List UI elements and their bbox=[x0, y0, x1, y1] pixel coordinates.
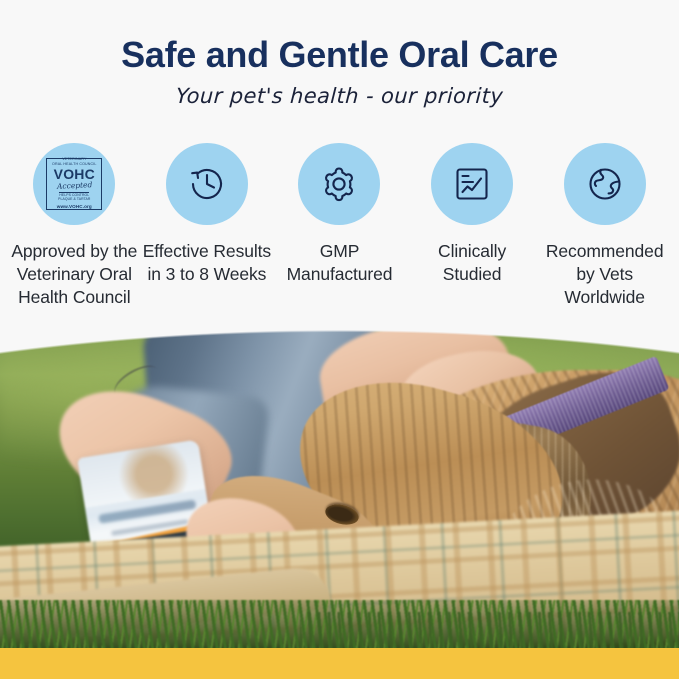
feature-badge-effective: Effective Results in 3 to 8 Weeks bbox=[141, 143, 274, 286]
vohc-mark: VOHC bbox=[54, 167, 95, 181]
feature-badge-caption: Clinically Studied bbox=[406, 240, 539, 286]
bottom-accent-bar bbox=[0, 648, 679, 679]
feature-badge-caption: Recommended by Vets Worldwide bbox=[538, 240, 671, 309]
feature-badge-row: VETERINARY ORAL HEALTH COUNCIL VOHC Acce… bbox=[8, 143, 671, 309]
product-infographic-page: Safe and Gentle Oral Care Your pet's hea… bbox=[0, 0, 679, 679]
page-subtitle: Your pet's health - our priority bbox=[0, 84, 679, 108]
gear-icon bbox=[298, 143, 380, 225]
vohc-seal-icon: VETERINARY ORAL HEALTH COUNCIL VOHC Acce… bbox=[33, 143, 115, 225]
globe-icon bbox=[564, 143, 646, 225]
photo-foreground-grass bbox=[300, 612, 679, 648]
feature-badge-gmp: GMP Manufactured bbox=[273, 143, 406, 286]
header: Safe and Gentle Oral Care Your pet's hea… bbox=[0, 0, 679, 108]
feature-badge-caption: GMP Manufactured bbox=[273, 240, 406, 286]
feature-badge-clinical: Clinically Studied bbox=[406, 143, 539, 286]
feature-badge-caption: Approved by the Veterinary Oral Health C… bbox=[8, 240, 141, 309]
vohc-accepted: Accepted bbox=[56, 181, 92, 190]
vohc-line4: PLAQUE & TARTAR bbox=[58, 198, 90, 201]
feature-badge-worldwide: Recommended by Vets Worldwide bbox=[538, 143, 671, 309]
lifestyle-photo bbox=[0, 330, 679, 648]
feature-badge-caption: Effective Results in 3 to 8 Weeks bbox=[141, 240, 274, 286]
feature-badge-vohc: VETERINARY ORAL HEALTH COUNCIL VOHC Acce… bbox=[8, 143, 141, 309]
vohc-url: www.VOHC.org bbox=[57, 205, 92, 210]
clock-history-icon bbox=[166, 143, 248, 225]
page-title: Safe and Gentle Oral Care bbox=[0, 34, 679, 75]
chart-square-icon bbox=[431, 143, 513, 225]
